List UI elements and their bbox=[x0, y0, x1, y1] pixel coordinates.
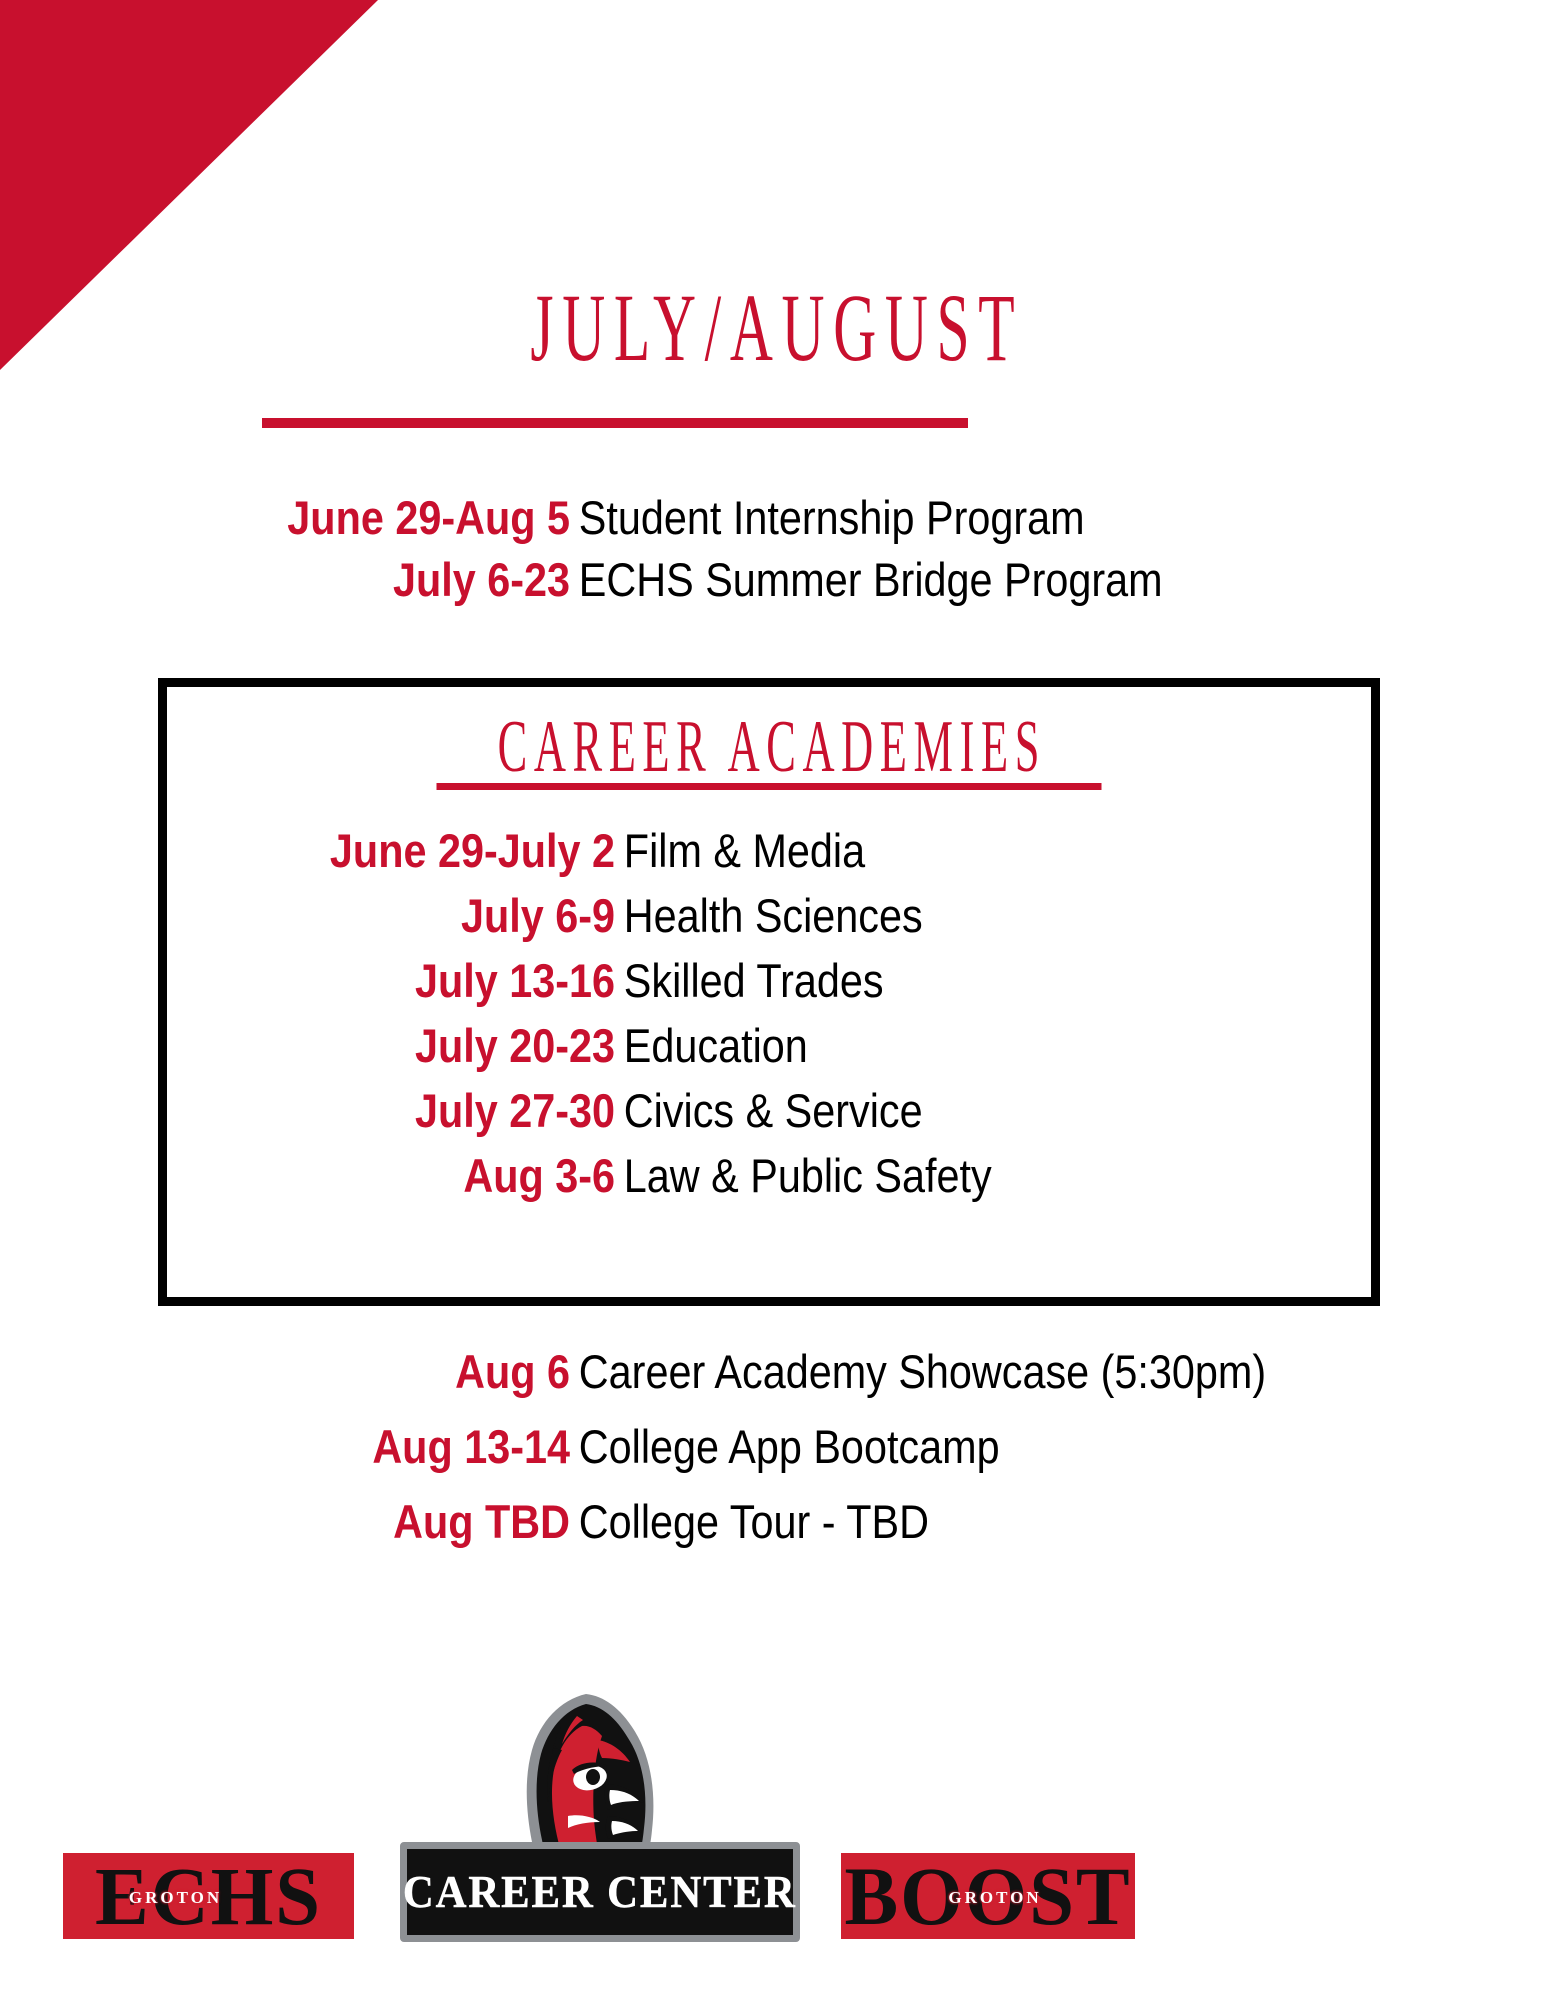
schedule-row: Aug 6 Career Academy Showcase (5:30pm) bbox=[0, 1348, 1545, 1395]
schedule-date: July 6-23 bbox=[200, 556, 570, 603]
academy-date: July 20-23 bbox=[230, 1022, 615, 1069]
academy-date: Aug 3-6 bbox=[230, 1152, 615, 1199]
schedule-row: Aug TBD College Tour - TBD bbox=[0, 1498, 1545, 1545]
academy-date: July 13-16 bbox=[230, 957, 615, 1004]
academy-date: June 29-July 2 bbox=[230, 827, 615, 874]
career-academies-title-underline bbox=[437, 783, 1102, 790]
career-academies-title-container: CAREER ACADEMIES bbox=[167, 709, 1371, 787]
page-title-container: JULY/AUGUST bbox=[0, 278, 1545, 379]
schedule-row: July 6-23 ECHS Summer Bridge Program bbox=[0, 556, 1545, 603]
schedule-row: June 29-Aug 5 Student Internship Program bbox=[0, 494, 1545, 541]
schedule-row: Aug 13-14 College App Bootcamp bbox=[0, 1423, 1545, 1470]
academy-label: Civics & Service bbox=[615, 1087, 923, 1134]
top-schedule-list: June 29-Aug 5 Student Internship Program… bbox=[0, 494, 1545, 618]
bottom-schedule-list: Aug 6 Career Academy Showcase (5:30pm) A… bbox=[0, 1348, 1545, 1573]
academy-date: July 27-30 bbox=[230, 1087, 615, 1134]
academy-row: July 27-30 Civics & Service bbox=[167, 1087, 1371, 1134]
career-academies-box: CAREER ACADEMIES June 29-July 2 Film & M… bbox=[158, 678, 1380, 1306]
schedule-label: ECHS Summer Bridge Program bbox=[570, 556, 1163, 603]
academy-date: July 6-9 bbox=[230, 892, 615, 939]
academy-label: Law & Public Safety bbox=[615, 1152, 992, 1199]
career-center-banner-text: CAREER CENTER bbox=[403, 1869, 797, 1915]
boost-logo: BOOST GROTON bbox=[838, 1850, 1138, 1942]
page-title-underline bbox=[262, 418, 968, 428]
career-academies-list: June 29-July 2 Film & Media July 6-9 Hea… bbox=[167, 827, 1371, 1199]
schedule-date: Aug 6 bbox=[174, 1348, 570, 1395]
schedule-label: Career Academy Showcase (5:30pm) bbox=[570, 1348, 1266, 1395]
boost-logo-groton-overlay: GROTON bbox=[855, 1889, 1135, 1906]
page-title: JULY/AUGUST bbox=[522, 278, 1024, 379]
schedule-date: Aug TBD bbox=[174, 1498, 570, 1545]
academy-row: July 6-9 Health Sciences bbox=[167, 892, 1371, 939]
academy-row: June 29-July 2 Film & Media bbox=[167, 827, 1371, 874]
academy-label: Film & Media bbox=[615, 827, 865, 874]
echs-logo: ECHS GROTON bbox=[60, 1850, 357, 1942]
academy-label: Skilled Trades bbox=[615, 957, 884, 1004]
career-center-logo: CAREER CENTER bbox=[390, 1690, 810, 1960]
academy-label: Education bbox=[615, 1022, 808, 1069]
schedule-label: Student Internship Program bbox=[570, 494, 1085, 541]
schedule-date: June 29-Aug 5 bbox=[200, 494, 570, 541]
schedule-label: College App Bootcamp bbox=[570, 1423, 1000, 1470]
academy-row: July 13-16 Skilled Trades bbox=[167, 957, 1371, 1004]
career-center-banner: CAREER CENTER bbox=[400, 1842, 800, 1942]
footer-logos: ECHS GROTON bbox=[0, 1690, 1545, 2000]
academy-row: Aug 3-6 Law & Public Safety bbox=[167, 1152, 1371, 1199]
career-academies-title: CAREER ACADEMIES bbox=[491, 709, 1046, 787]
schedule-label: College Tour - TBD bbox=[570, 1498, 929, 1545]
academy-row: July 20-23 Education bbox=[167, 1022, 1371, 1069]
academy-label: Health Sciences bbox=[615, 892, 923, 939]
echs-logo-groton-overlay: GROTON bbox=[60, 1889, 354, 1906]
schedule-date: Aug 13-14 bbox=[174, 1423, 570, 1470]
